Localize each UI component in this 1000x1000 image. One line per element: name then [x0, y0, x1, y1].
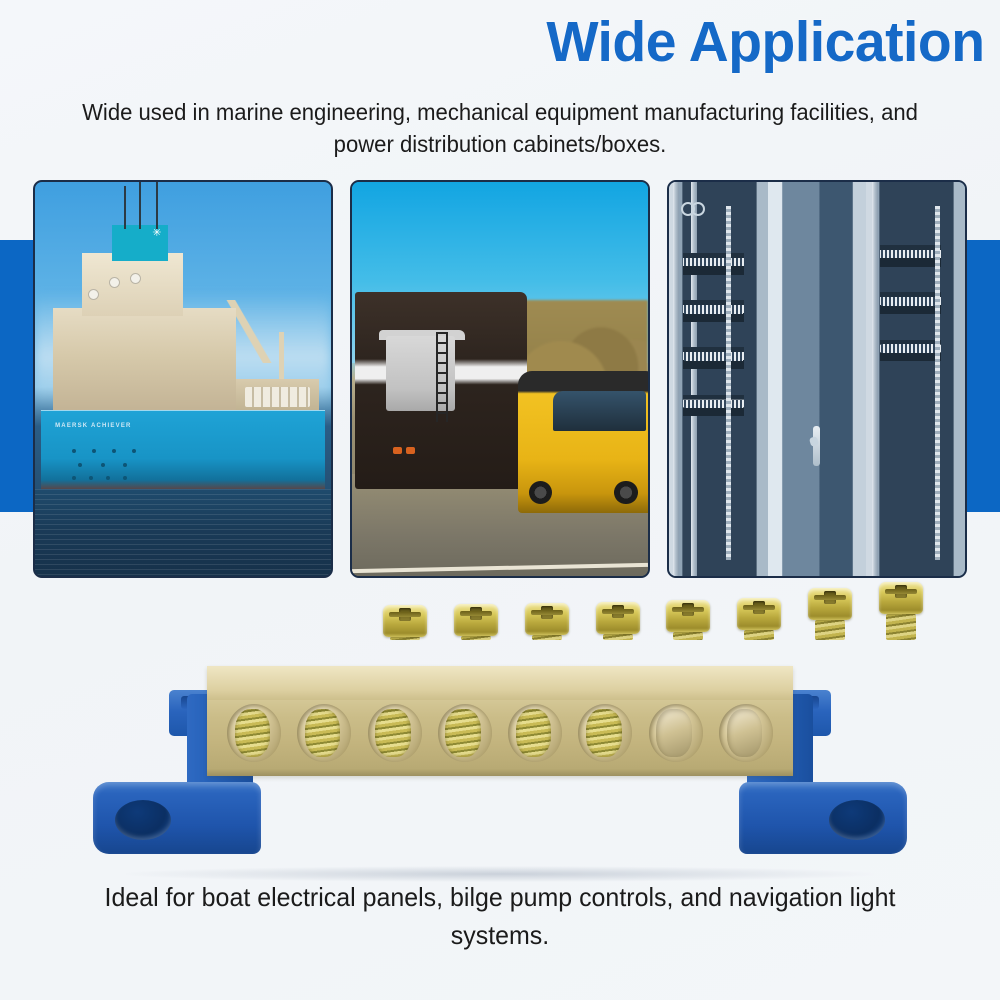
- terminal-screw-4: [596, 602, 640, 640]
- wire-entry-hole-2: [297, 704, 351, 762]
- ship-name-text: MAERSK ACHIEVER: [55, 423, 131, 429]
- ship-hull: MAERSK ACHIEVER: [41, 410, 325, 498]
- page-caption: Ideal for boat electrical panels, bilge …: [87, 878, 913, 954]
- wire-entry-hole-6: [578, 704, 632, 762]
- screw-slot: [753, 601, 765, 614]
- ship-deck-pipes: [245, 387, 310, 407]
- screw-head: [666, 600, 710, 632]
- bracket-left-mounting-hole: [115, 800, 171, 840]
- terminal-screw-8: [879, 582, 923, 640]
- road-marking-line: [352, 563, 648, 573]
- hole-thread: [727, 709, 763, 758]
- accent-bar-right: [962, 240, 1000, 512]
- ship-mast-center: [139, 180, 141, 229]
- ship-mast-left: [124, 186, 126, 229]
- terminal-block-row-2: [683, 300, 744, 322]
- screw-slot: [682, 603, 694, 616]
- screw-head: [525, 603, 569, 635]
- screw-shank: [673, 632, 703, 640]
- screw-slot: [824, 591, 836, 604]
- cabinet-column-center: [768, 182, 867, 576]
- cabinet-door-center: [768, 182, 867, 576]
- ship-deckhouse: [82, 253, 183, 316]
- cabinet-bank: [669, 182, 965, 576]
- screw-shank: [603, 634, 633, 640]
- car-wheel-rear: [614, 481, 637, 504]
- ship-bridge: [112, 225, 168, 260]
- marketing-page: Wide Application Wide used in marine eng…: [0, 0, 1000, 1000]
- cabinet-column-left: [669, 182, 768, 576]
- page-subtitle: Wide used in marine engineering, mechani…: [68, 96, 932, 160]
- terminal-screw-7: [808, 588, 852, 640]
- cabinet-frame-rail-3: [872, 182, 878, 576]
- hole-thread: [516, 709, 552, 758]
- hole-thread: [586, 709, 622, 758]
- page-title: Wide Application: [30, 8, 1000, 76]
- car-rear-window: [553, 391, 646, 431]
- screw-shank: [815, 620, 845, 640]
- rv-motorhome: [355, 292, 527, 489]
- application-gallery: MAERSK ACHIEVER: [33, 180, 967, 578]
- accent-bar-left: [0, 240, 34, 512]
- screw-shank: [744, 630, 774, 640]
- harbor-water: [35, 489, 331, 576]
- terminal-block-row-1: [683, 253, 744, 275]
- wire-entry-hole-1: [227, 704, 281, 762]
- brass-bar-top-face: [207, 666, 793, 700]
- towed-yellow-car: [518, 371, 650, 513]
- brass-bus-bar-body: [207, 666, 793, 776]
- wire-entry-hole-3: [368, 704, 422, 762]
- hole-thread: [656, 709, 692, 758]
- terminal-screw-1: [383, 605, 427, 640]
- rv-tail-light-left: [393, 447, 402, 454]
- wire-entry-hole-4: [438, 704, 492, 762]
- screw-slot: [895, 585, 907, 598]
- bracket-left-base: [93, 782, 261, 854]
- hole-thread: [375, 709, 411, 758]
- terminal-block-row-3: [683, 347, 744, 369]
- terminal-block-row-7: [880, 340, 941, 362]
- terminal-block-row-6: [880, 292, 941, 314]
- screw-slot: [541, 606, 553, 619]
- screw-head: [879, 582, 923, 614]
- hole-thread: [305, 709, 341, 758]
- screw-head: [808, 588, 852, 620]
- screw-slot: [399, 608, 411, 621]
- gallery-photo-rv-towing-car: [350, 180, 650, 578]
- terminal-screw-2: [454, 604, 498, 640]
- screw-slot: [612, 605, 624, 618]
- screw-shank: [461, 636, 491, 640]
- rv-rear-ladder: [436, 332, 448, 423]
- gallery-photo-power-cabinet: [667, 180, 967, 578]
- cabinet-wire-duct-left: [726, 206, 731, 561]
- brass-bar-bottom-edge: [207, 769, 793, 776]
- ship-mast-right: [156, 180, 158, 229]
- screw-shank: [390, 637, 420, 640]
- wire-entry-hole-row: [227, 702, 773, 764]
- cabinet-frame-rail-1: [673, 182, 679, 576]
- rv-tail-light-right: [406, 447, 415, 454]
- hole-thread: [445, 709, 481, 758]
- wire-entry-hole-5: [508, 704, 562, 762]
- ship-superstructure: [53, 308, 237, 414]
- cabinet-hinge-ring-2: [691, 202, 705, 216]
- screw-shank: [532, 635, 562, 640]
- cabinet-column-right: [866, 182, 965, 576]
- screw-head: [596, 602, 640, 634]
- product-bus-bar-image: [55, 600, 945, 890]
- screw-head: [383, 605, 427, 637]
- cabinet-frame-rail-2: [691, 182, 697, 576]
- terminal-block-row-4: [683, 395, 744, 417]
- gallery-photo-marine-vessel: MAERSK ACHIEVER: [33, 180, 333, 578]
- screw-head: [454, 604, 498, 636]
- screw-head: [737, 598, 781, 630]
- car-wheel-front: [529, 481, 552, 504]
- wire-entry-hole-7: [649, 704, 703, 762]
- bracket-right-base: [739, 782, 907, 854]
- terminal-screw-6: [737, 598, 781, 640]
- cabinet-wire-duct-right: [935, 206, 940, 561]
- terminal-block-row-5: [880, 245, 941, 267]
- wire-entry-hole-8: [719, 704, 773, 762]
- cabinet-door-left: [669, 182, 768, 576]
- terminal-screw-5: [666, 600, 710, 640]
- terminal-screw-3: [525, 603, 569, 640]
- cabinet-door-right: [866, 182, 965, 576]
- screw-slot: [470, 607, 482, 620]
- bracket-right-mounting-hole: [829, 800, 885, 840]
- hole-thread: [235, 709, 271, 758]
- cabinet-door-handle: [813, 426, 820, 465]
- ship-portholes: [64, 447, 206, 487]
- screw-shank: [886, 614, 916, 640]
